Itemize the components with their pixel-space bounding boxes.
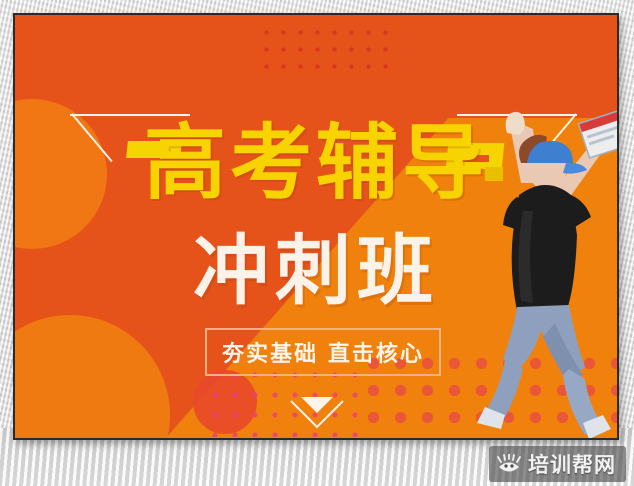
tagline-text: 夯实基础 直击核心: [222, 336, 424, 368]
eye-burst-icon: [497, 454, 521, 474]
tagline-box: 夯实基础 直击核心: [205, 328, 441, 376]
circle-decoration-bottom-left: [15, 315, 170, 438]
chevron-down-icon: [289, 393, 345, 431]
poster-artwork: 高考辅导 冲刺班 夯实基础 直击核心: [15, 15, 617, 438]
poster-root: 高考辅导 冲刺班 夯实基础 直击核心: [0, 0, 634, 486]
poster-headline: 高考辅导: [15, 123, 617, 205]
watermark-text: 培训帮网: [528, 449, 616, 479]
poster-subheadline: 冲刺班: [15, 233, 617, 309]
watermark: 培训帮网: [489, 446, 626, 482]
dot-pattern-top: [255, 21, 391, 79]
